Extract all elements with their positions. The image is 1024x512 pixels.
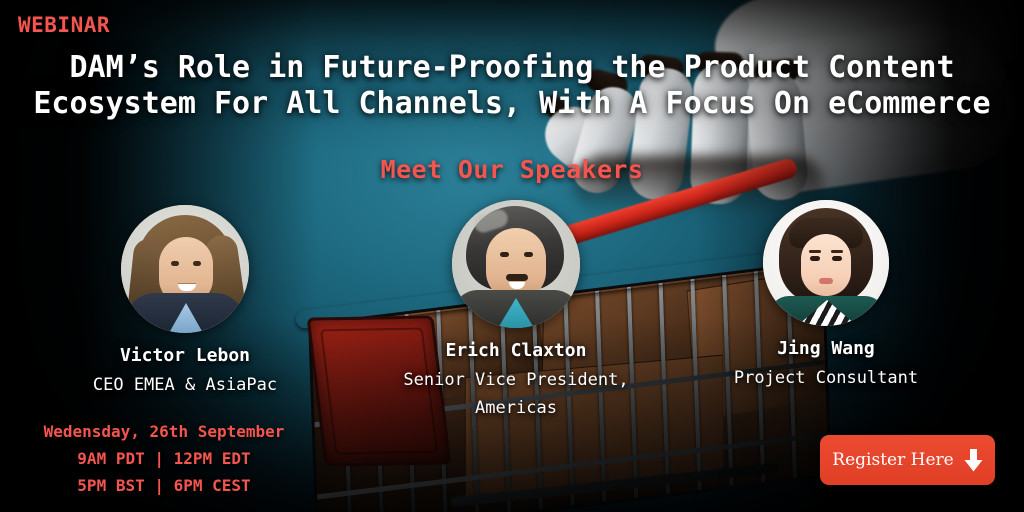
register-button-label: Register Here <box>832 450 953 470</box>
speaker-role-line: CEO EMEA & AsiaPac <box>35 371 335 399</box>
page-title: DAM’s Role in Future-Proofing the Produc… <box>0 50 1024 122</box>
webinar-times-pdt-edt: 9AM PDT | 12PM EDT <box>14 445 314 472</box>
speaker-name: Jing Wang <box>676 338 976 359</box>
webinar-times-bst-cest: 5PM BST | 6PM CEST <box>14 472 314 499</box>
speaker-role: Senior Vice President, Americas <box>366 366 666 422</box>
speaker-role-line: Senior Vice President, <box>366 366 666 394</box>
webinar-banner: WEBINAR DAM’s Role in Future-Proofing th… <box>0 0 1024 512</box>
speaker-card-erich-claxton: Erich Claxton Senior Vice President, Ame… <box>366 200 666 422</box>
register-button[interactable]: Register Here <box>820 435 995 485</box>
webinar-date: Wedensday, 26th September <box>14 418 314 445</box>
speaker-card-victor-lebon: Victor Lebon CEO EMEA & AsiaPac <box>35 205 335 399</box>
speaker-role-line: Project Consultant <box>676 364 976 392</box>
avatar <box>121 205 249 333</box>
speaker-role: Project Consultant <box>676 364 976 392</box>
avatar <box>452 200 580 328</box>
webinar-eyebrow-label: WEBINAR <box>18 13 110 37</box>
avatar <box>763 200 889 326</box>
speakers-heading: Meet Our Speakers <box>0 155 1024 184</box>
speaker-name: Victor Lebon <box>35 345 335 366</box>
speaker-card-jing-wang: Jing Wang Project Consultant <box>676 200 976 392</box>
speaker-role-line: Americas <box>366 394 666 422</box>
title-line-2: Ecosystem For All Channels, With A Focus… <box>0 86 1024 122</box>
speaker-name: Erich Claxton <box>366 340 666 361</box>
arrow-down-icon <box>964 449 983 472</box>
speaker-role: CEO EMEA & AsiaPac <box>35 371 335 399</box>
webinar-schedule: Wedensday, 26th September 9AM PDT | 12PM… <box>14 418 314 499</box>
title-line-1: DAM’s Role in Future-Proofing the Produc… <box>0 50 1024 86</box>
